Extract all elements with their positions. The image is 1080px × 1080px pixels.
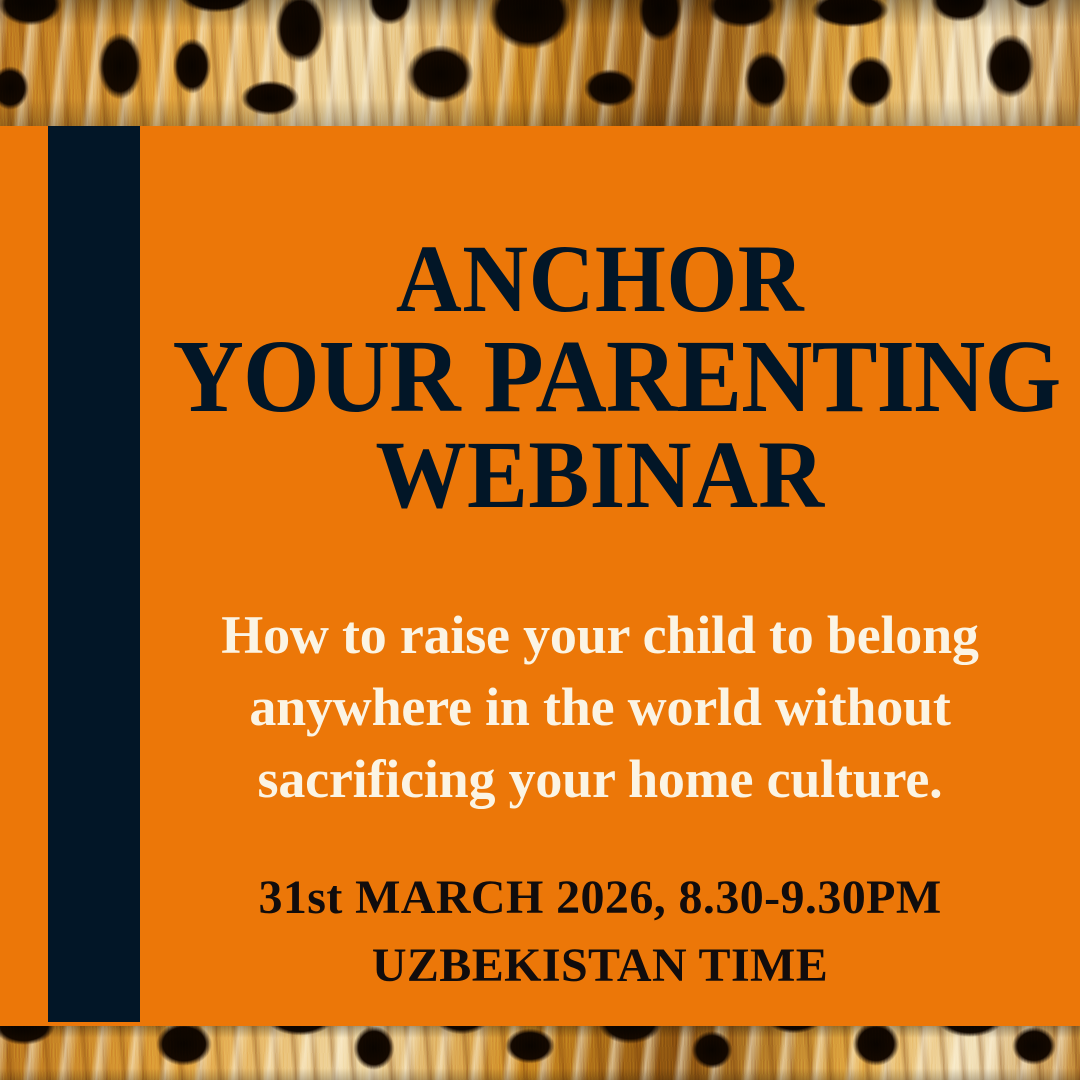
navy-accent-bar (48, 126, 140, 1022)
leopard-print-top-border (0, 0, 1080, 126)
page-title: ANCHOR YOUR PARENTING WEBINAR (173, 232, 1028, 522)
subtitle-line-2: anywhere in the world without (172, 672, 1028, 744)
headline-line-1: ANCHOR (173, 232, 1028, 326)
event-datetime: 31st MARCH 2026, 8.30-9.30PM UZBEKISTAN … (150, 864, 1050, 1000)
fur-vignette (0, 0, 1080, 126)
content-panel: ANCHOR YOUR PARENTING WEBINAR How to rai… (0, 126, 1080, 1026)
webinar-poster: ANCHOR YOUR PARENTING WEBINAR How to rai… (0, 0, 1080, 1080)
subtitle-line-1: How to raise your child to belong (172, 600, 1028, 672)
fur-vignette (0, 1026, 1080, 1080)
leopard-print-bottom-border (0, 1026, 1080, 1080)
datetime-line-1: 31st MARCH 2026, 8.30-9.30PM (150, 864, 1050, 932)
headline-line-3: WEBINAR (173, 428, 1028, 522)
headline-line-2: YOUR PARENTING (173, 326, 1028, 428)
subtitle: How to raise your child to belong anywhe… (172, 600, 1028, 815)
datetime-line-2: UZBEKISTAN TIME (150, 932, 1050, 1000)
poster-content: ANCHOR YOUR PARENTING WEBINAR How to rai… (150, 126, 1050, 1026)
subtitle-line-3: sacrificing your home culture. (172, 744, 1028, 816)
